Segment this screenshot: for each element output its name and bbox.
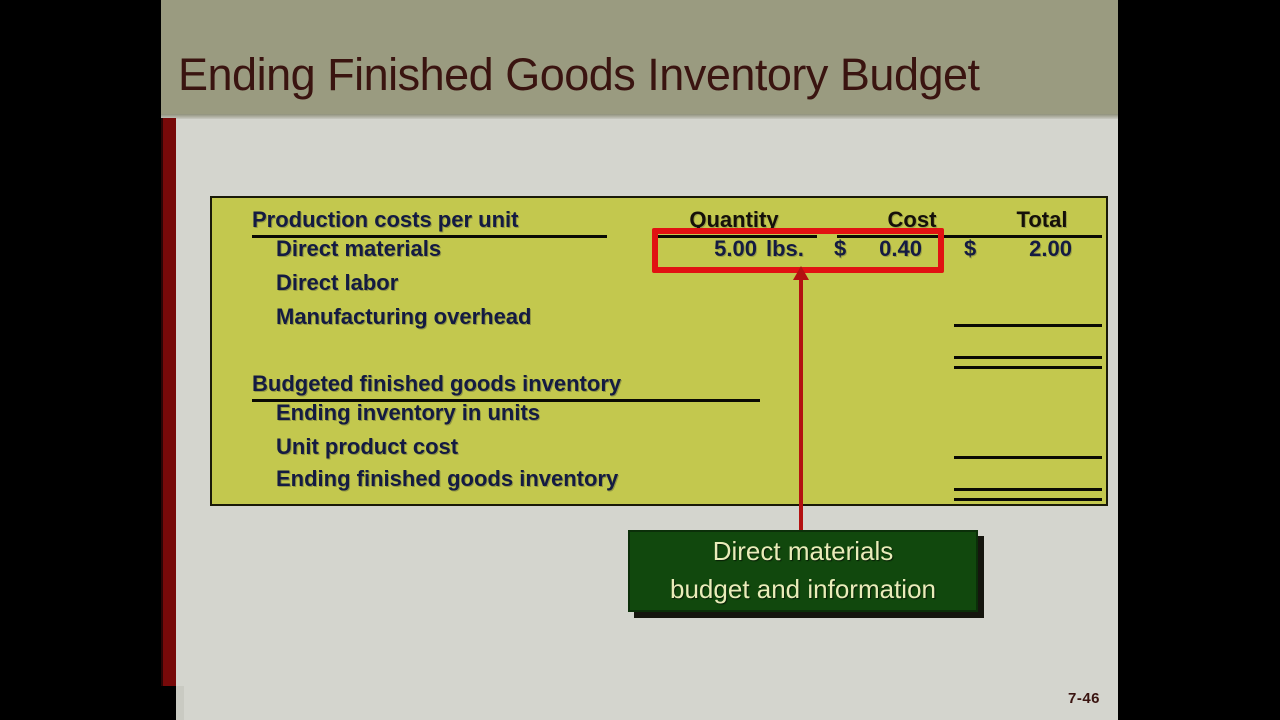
row-label-unit-product-cost: Unit product cost — [276, 434, 458, 460]
callout-line-2: budget and information — [670, 571, 936, 609]
row-label-direct-materials: Direct materials — [276, 236, 441, 262]
title-bar-shadow — [161, 114, 1118, 119]
row-label-ending-inventory-units: Ending inventory in units — [276, 400, 540, 426]
total-double-rule-upper — [954, 356, 1102, 369]
callout-arrow-line — [799, 272, 803, 534]
cell-direct-materials-total-symbol: $ — [964, 236, 976, 262]
page-title: Ending Finished Goods Inventory Budget — [178, 52, 1108, 97]
slide-lower-step-fill — [176, 686, 184, 720]
slide-stage: Ending Finished Goods Inventory Budget 7… — [0, 0, 1280, 720]
callout-box: Direct materials budget and information — [628, 530, 978, 612]
row-label-ending-finished-goods-inventory: Ending finished goods inventory — [276, 466, 618, 492]
row-label-manufacturing-overhead: Manufacturing overhead — [276, 304, 531, 330]
callout-line-1: Direct materials — [713, 533, 894, 571]
accent-bar — [163, 118, 176, 686]
row-label-direct-labor: Direct labor — [276, 270, 398, 296]
column-header-total: Total — [982, 207, 1102, 233]
cell-direct-materials-total: 2.00 — [1010, 236, 1072, 262]
section-heading-budgeted-inventory: Budgeted finished goods inventory — [252, 371, 621, 397]
section-heading-production-costs: Production costs per unit — [252, 207, 518, 233]
total-double-rule-lower — [954, 488, 1102, 501]
subtotal-rule-lower — [954, 456, 1102, 459]
subtotal-rule-upper — [954, 324, 1102, 327]
page-number: 7-46 — [1068, 690, 1100, 707]
